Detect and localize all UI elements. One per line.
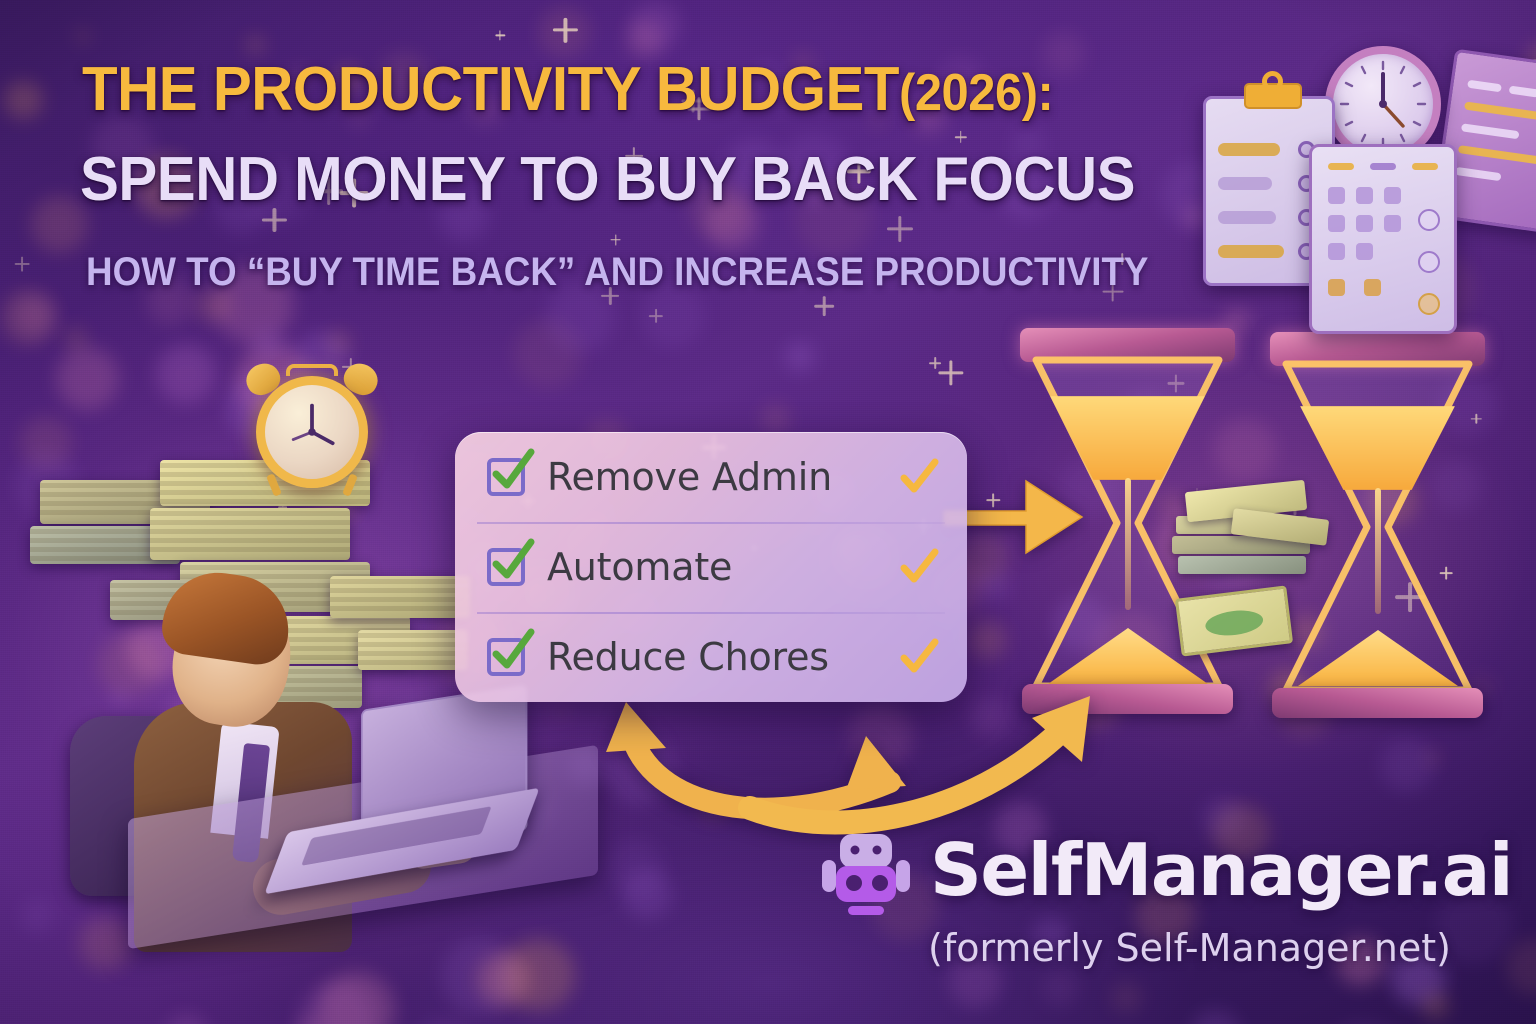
arrow-curve-right-icon	[750, 732, 1060, 822]
page-subtitle: HOW TO “BUY TIME BACK” AND INCREASE PROD…	[86, 250, 1148, 294]
arrow-head-mid	[846, 736, 906, 790]
title-year-text: (2026):	[899, 64, 1053, 122]
amber-check-icon	[899, 547, 939, 587]
checklist-row[interactable]: Remove Admin	[455, 432, 967, 522]
calendar-grid-icon	[1309, 144, 1457, 334]
dollar-bill-icon	[1175, 585, 1293, 656]
amber-check-icon	[899, 457, 939, 497]
checklist-row[interactable]: Automate	[455, 522, 967, 612]
brand-logo-block[interactable]: SelfManager.ai (formerly Self-Manager.ne…	[818, 826, 1438, 986]
amber-check-icon	[899, 637, 939, 677]
checklist-row[interactable]: Reduce Chores	[455, 612, 967, 702]
checkbox-checked-icon[interactable]	[487, 458, 525, 496]
checklist-card: Remove Admin Automate Reduce Chores	[455, 432, 967, 702]
arrow-head-left	[606, 702, 666, 752]
poster-canvas: THE PRODUCTIVITY BUDGET(2026): SPEND MON…	[0, 0, 1536, 1024]
checkbox-checked-icon[interactable]	[487, 548, 525, 586]
page-title-line-2: SPEND MONEY TO BUY BACK FOCUS	[80, 148, 1135, 212]
money-stack-icon	[1168, 460, 1338, 650]
checklist-item-label: Remove Admin	[547, 455, 899, 499]
arrow-curve-left-icon	[630, 730, 890, 809]
robot-icon	[818, 828, 914, 924]
checklist-item-label: Reduce Chores	[547, 635, 899, 679]
page-title-line-1: THE PRODUCTIVITY BUDGET(2026):	[82, 58, 1053, 125]
productivity-icon-cluster	[1185, 38, 1535, 328]
alarm-clock-icon	[248, 358, 376, 490]
checkbox-checked-icon[interactable]	[487, 638, 525, 676]
brand-former-name: (formerly Self-Manager.net)	[928, 926, 1451, 970]
title-main-text: THE PRODUCTIVITY BUDGET	[82, 55, 899, 124]
brand-name: SelfManager.ai	[930, 828, 1512, 912]
checklist-item-label: Automate	[547, 545, 899, 589]
